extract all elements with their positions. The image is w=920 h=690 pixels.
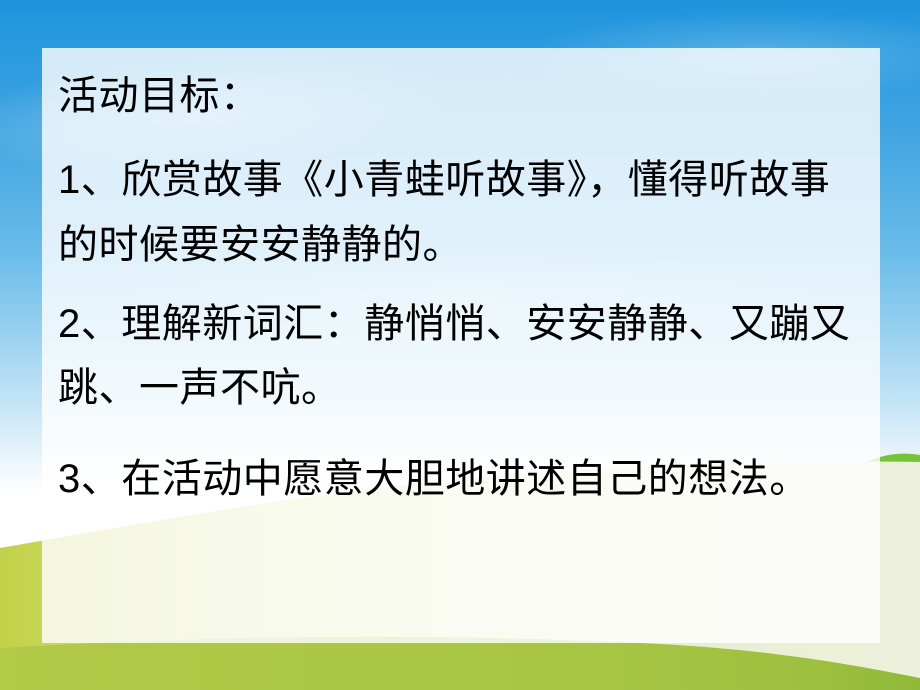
objective-item-2: 2、理解新词汇：静悄悄、安安静静、又蹦又跳、一声不吭。 bbox=[50, 292, 854, 422]
page-title: 活动目标： bbox=[50, 70, 854, 122]
objective-item-1: 1、欣赏故事《小青蛙听故事》，懂得听故事的时候要安安静静的。 bbox=[50, 148, 854, 278]
objectives-text-block: 活动目标： 1、欣赏故事《小青蛙听故事》，懂得听故事的时候要安安静静的。 2、理… bbox=[50, 70, 854, 512]
slide-canvas: 活动目标： 1、欣赏故事《小青蛙听故事》，懂得听故事的时候要安安静静的。 2、理… bbox=[0, 0, 920, 690]
objective-item-3: 3、在活动中愿意大胆地讲述自己的想法。 bbox=[50, 447, 854, 512]
content-panel: 活动目标： 1、欣赏故事《小青蛙听故事》，懂得听故事的时候要安安静静的。 2、理… bbox=[42, 48, 880, 643]
